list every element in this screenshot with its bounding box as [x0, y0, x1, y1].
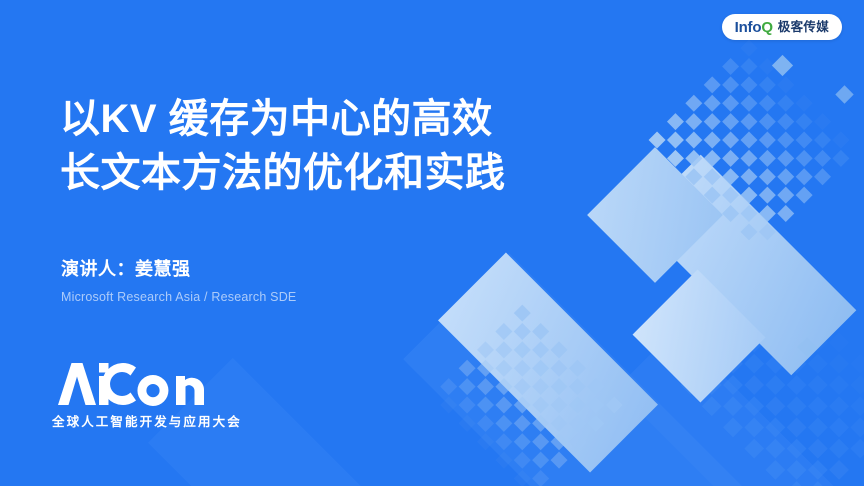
checker-trail-bottom-left	[422, 292, 648, 486]
stray-diamond-one	[772, 55, 793, 76]
aicon-tagline: 全球人工智能开发与应用大会	[52, 414, 242, 430]
checker-trail-dim	[681, 251, 864, 486]
title-line-2: 长文本方法的优化和实践	[60, 146, 600, 200]
diagonal-band-center	[403, 253, 864, 486]
title-line-1: 以KV 缓存为中心的高效	[60, 92, 600, 146]
speaker-affiliation: Microsoft Research Asia / Research SDE	[61, 288, 296, 306]
infoq-info-text: Info	[735, 19, 762, 36]
speaker-name: 演讲人：姜慧强	[61, 256, 296, 282]
pinwheel-square-right	[636, 155, 857, 376]
pinwheel-square-left	[438, 253, 658, 473]
diagonal-band-lower-right	[616, 329, 864, 486]
infoq-q-text: Q	[761, 19, 772, 36]
checker-trail-top-right	[649, 0, 864, 281]
aicon-logo-icon	[52, 361, 204, 407]
slide-title: 以KV 缓存为中心的高效 长文本方法的优化和实践	[60, 92, 600, 200]
infoq-chinese-text: 极客传媒	[778, 21, 829, 34]
presentation-slide: InfoQ 极客传媒 以KV 缓存为中心的高效 长文本方法的优化和实践 演讲人：…	[0, 0, 864, 486]
infoq-logo-badge: InfoQ 极客传媒	[722, 14, 842, 40]
stray-diamond-three	[797, 337, 817, 357]
pinwheel-square-top	[587, 147, 723, 283]
pinwheel-square-bottom	[633, 270, 766, 403]
stray-diamond-two	[835, 85, 853, 103]
speaker-info: 演讲人：姜慧强 Microsoft Research Asia / Resear…	[61, 256, 296, 306]
infoq-wordmark: InfoQ	[735, 20, 773, 35]
aicon-brand-lockup: 全球人工智能开发与应用大会	[52, 361, 242, 430]
